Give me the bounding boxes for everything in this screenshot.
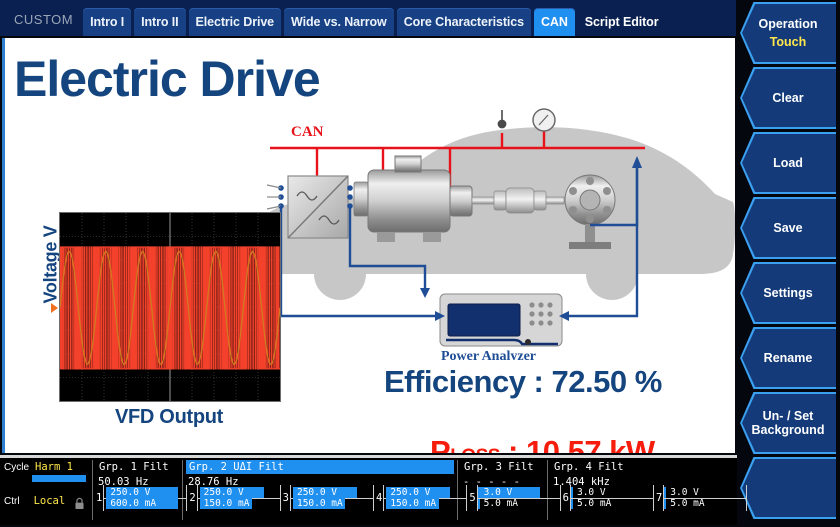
softkey-settings[interactable]: Settings	[740, 262, 836, 324]
channel-2-voltage: 250.0 V	[198, 487, 280, 498]
channel-2-box: 250.0 V150.0 mA	[197, 485, 281, 511]
status-bar: Cycle Harm 1 Ctrl Local Grp. 1 Filt 50.0…	[0, 455, 737, 525]
top-tab-bar: CUSTOM Intro I Intro II Electric Drive W…	[0, 0, 737, 36]
tab-intro-2[interactable]: Intro II	[134, 8, 185, 36]
ploss-value: 10.57 kW	[526, 434, 655, 453]
tab-intro-1[interactable]: Intro I	[83, 8, 131, 36]
cycle-bar	[32, 475, 86, 482]
channel-6-voltage: 3.0 V	[571, 487, 653, 498]
efficiency-readout: Efficiency : 72.50 %	[384, 364, 662, 400]
group-1-header: Grp. 1 Filt	[96, 460, 180, 474]
tab-core-characteristics[interactable]: Core Characteristics	[397, 8, 531, 36]
softkey-settings-label: Settings	[763, 286, 812, 300]
channel-strip: 1250.0 V600.0 mA2250.0 V150.0 mA3250.0 V…	[96, 485, 749, 511]
status-divider-1	[92, 460, 93, 520]
tab-electric-drive[interactable]: Electric Drive	[189, 8, 282, 36]
channel-2[interactable]: 2250.0 V150.0 mA	[189, 485, 280, 511]
softkey-empty[interactable]	[740, 457, 836, 519]
efficiency-label: Efficiency :	[384, 364, 552, 399]
status-cycle-ctrl: Cycle Harm 1 Ctrl Local	[4, 461, 90, 521]
channel-5[interactable]: 53.0 V5.0 mA	[469, 485, 560, 511]
channel-3[interactable]: 3250.0 V150.0 mA	[283, 485, 374, 511]
channel-5-voltage: 3.0 V	[478, 487, 560, 498]
channel-7-voltage: 3.0 V	[664, 487, 746, 498]
channel-1-box: 250.0 V600.0 mA	[103, 485, 187, 511]
main-canvas: Electric Drive	[2, 38, 735, 453]
ploss-prefix: P	[430, 434, 450, 453]
page-title: Electric Drive	[14, 54, 320, 104]
status-bar-top-rule	[0, 455, 737, 458]
softkey-rename[interactable]: Rename	[740, 327, 836, 389]
power-analyzer	[440, 294, 562, 346]
waveform-panel: Voltage V VFD Output	[22, 208, 287, 453]
zero-cursor-marker	[51, 303, 58, 313]
channel-7-current: 5.0 mA	[664, 498, 746, 509]
softkey-clear[interactable]: Clear	[740, 67, 836, 129]
canvas-left-rule	[2, 38, 5, 453]
channel-3-box: 250.0 V150.0 mA	[290, 485, 374, 511]
channel-1[interactable]: 1250.0 V600.0 mA	[96, 485, 187, 511]
powertrain-diagram: CAN	[247, 98, 735, 360]
cycle-value[interactable]: Harm 1	[35, 461, 73, 473]
group-3-header: Grp. 3 Filt	[461, 460, 545, 474]
softkey-load[interactable]: Load	[740, 132, 836, 194]
channel-4-number: 4	[376, 492, 382, 504]
channel-3-voltage: 250.0 V	[291, 487, 373, 498]
ctrl-value[interactable]: Local	[34, 495, 66, 507]
ctrl-label: Ctrl	[4, 496, 20, 507]
channel-6-box: 3.0 V5.0 mA	[570, 485, 654, 511]
group-4-header: Grp. 4 Filt	[551, 460, 731, 474]
cycle-label: Cycle	[4, 462, 29, 473]
ploss-separator: :	[500, 434, 526, 453]
waveform-display[interactable]	[59, 212, 281, 402]
can-bus-label: CAN	[291, 124, 324, 140]
lock-icon	[74, 497, 85, 510]
tab-script-editor[interactable]: Script Editor	[578, 8, 666, 36]
power-analyzer-label: Power Analyzer	[441, 349, 536, 360]
channel-5-box: 3.0 V5.0 mA	[477, 485, 561, 511]
softkey-operation-value: Touch	[770, 35, 807, 49]
channel-7[interactable]: 73.0 V5.0 mA	[656, 485, 747, 511]
softkey-save[interactable]: Save	[740, 197, 836, 259]
analyzer-screen: CUSTOM Intro I Intro II Electric Drive W…	[0, 0, 840, 525]
channel-4-voltage: 250.0 V	[384, 487, 466, 498]
channel-5-current: 5.0 mA	[478, 498, 560, 509]
channel-7-box: 3.0 V5.0 mA	[663, 485, 747, 511]
channel-3-number: 3	[283, 492, 289, 504]
tab-can[interactable]: CAN	[534, 8, 575, 36]
channel-4-current: 150.0 mA	[384, 498, 466, 509]
custom-label: CUSTOM	[0, 12, 83, 36]
softkey-background[interactable]: Un- / Set Background	[740, 392, 836, 454]
softkey-rename-label: Rename	[764, 351, 813, 365]
softkey-background-label: Un- / Set Background	[752, 409, 825, 438]
channel-7-number: 7	[656, 492, 662, 504]
scope-caption: VFD Output	[59, 406, 279, 429]
softkey-load-label: Load	[773, 156, 803, 170]
channel-1-number: 1	[96, 492, 102, 504]
softkey-clear-label: Clear	[772, 91, 803, 105]
tab-wide-vs-narrow[interactable]: Wide vs. Narrow	[284, 8, 394, 36]
channel-3-current: 150.0 mA	[291, 498, 373, 509]
channel-2-current: 150.0 mA	[198, 498, 280, 509]
softkey-operation-label: Operation	[758, 17, 817, 31]
softkey-operation[interactable]: Operation Touch	[740, 2, 836, 64]
channel-5-number: 5	[469, 492, 475, 504]
channel-6-number: 6	[563, 492, 569, 504]
group-2-header: Grp. 2 UΔI Filt	[186, 460, 454, 474]
channel-1-voltage: 250.0 V	[104, 487, 186, 498]
channel-1-current: 600.0 mA	[104, 498, 186, 509]
power-loss-readout: PLOSS : 10.57 kW	[430, 434, 655, 453]
channel-4-box: 250.0 V150.0 mA	[383, 485, 467, 511]
softkey-save-label: Save	[773, 221, 802, 235]
channel-6-current: 5.0 mA	[571, 498, 653, 509]
channel-4[interactable]: 4250.0 V150.0 mA	[376, 485, 467, 511]
efficiency-value: 72.50 %	[552, 364, 662, 399]
ploss-subscript: LOSS	[450, 446, 500, 453]
channel-6[interactable]: 63.0 V5.0 mA	[563, 485, 654, 511]
softkey-menu: Operation Touch Clear Load Save Settings…	[736, 0, 840, 527]
channel-2-number: 2	[189, 492, 195, 504]
